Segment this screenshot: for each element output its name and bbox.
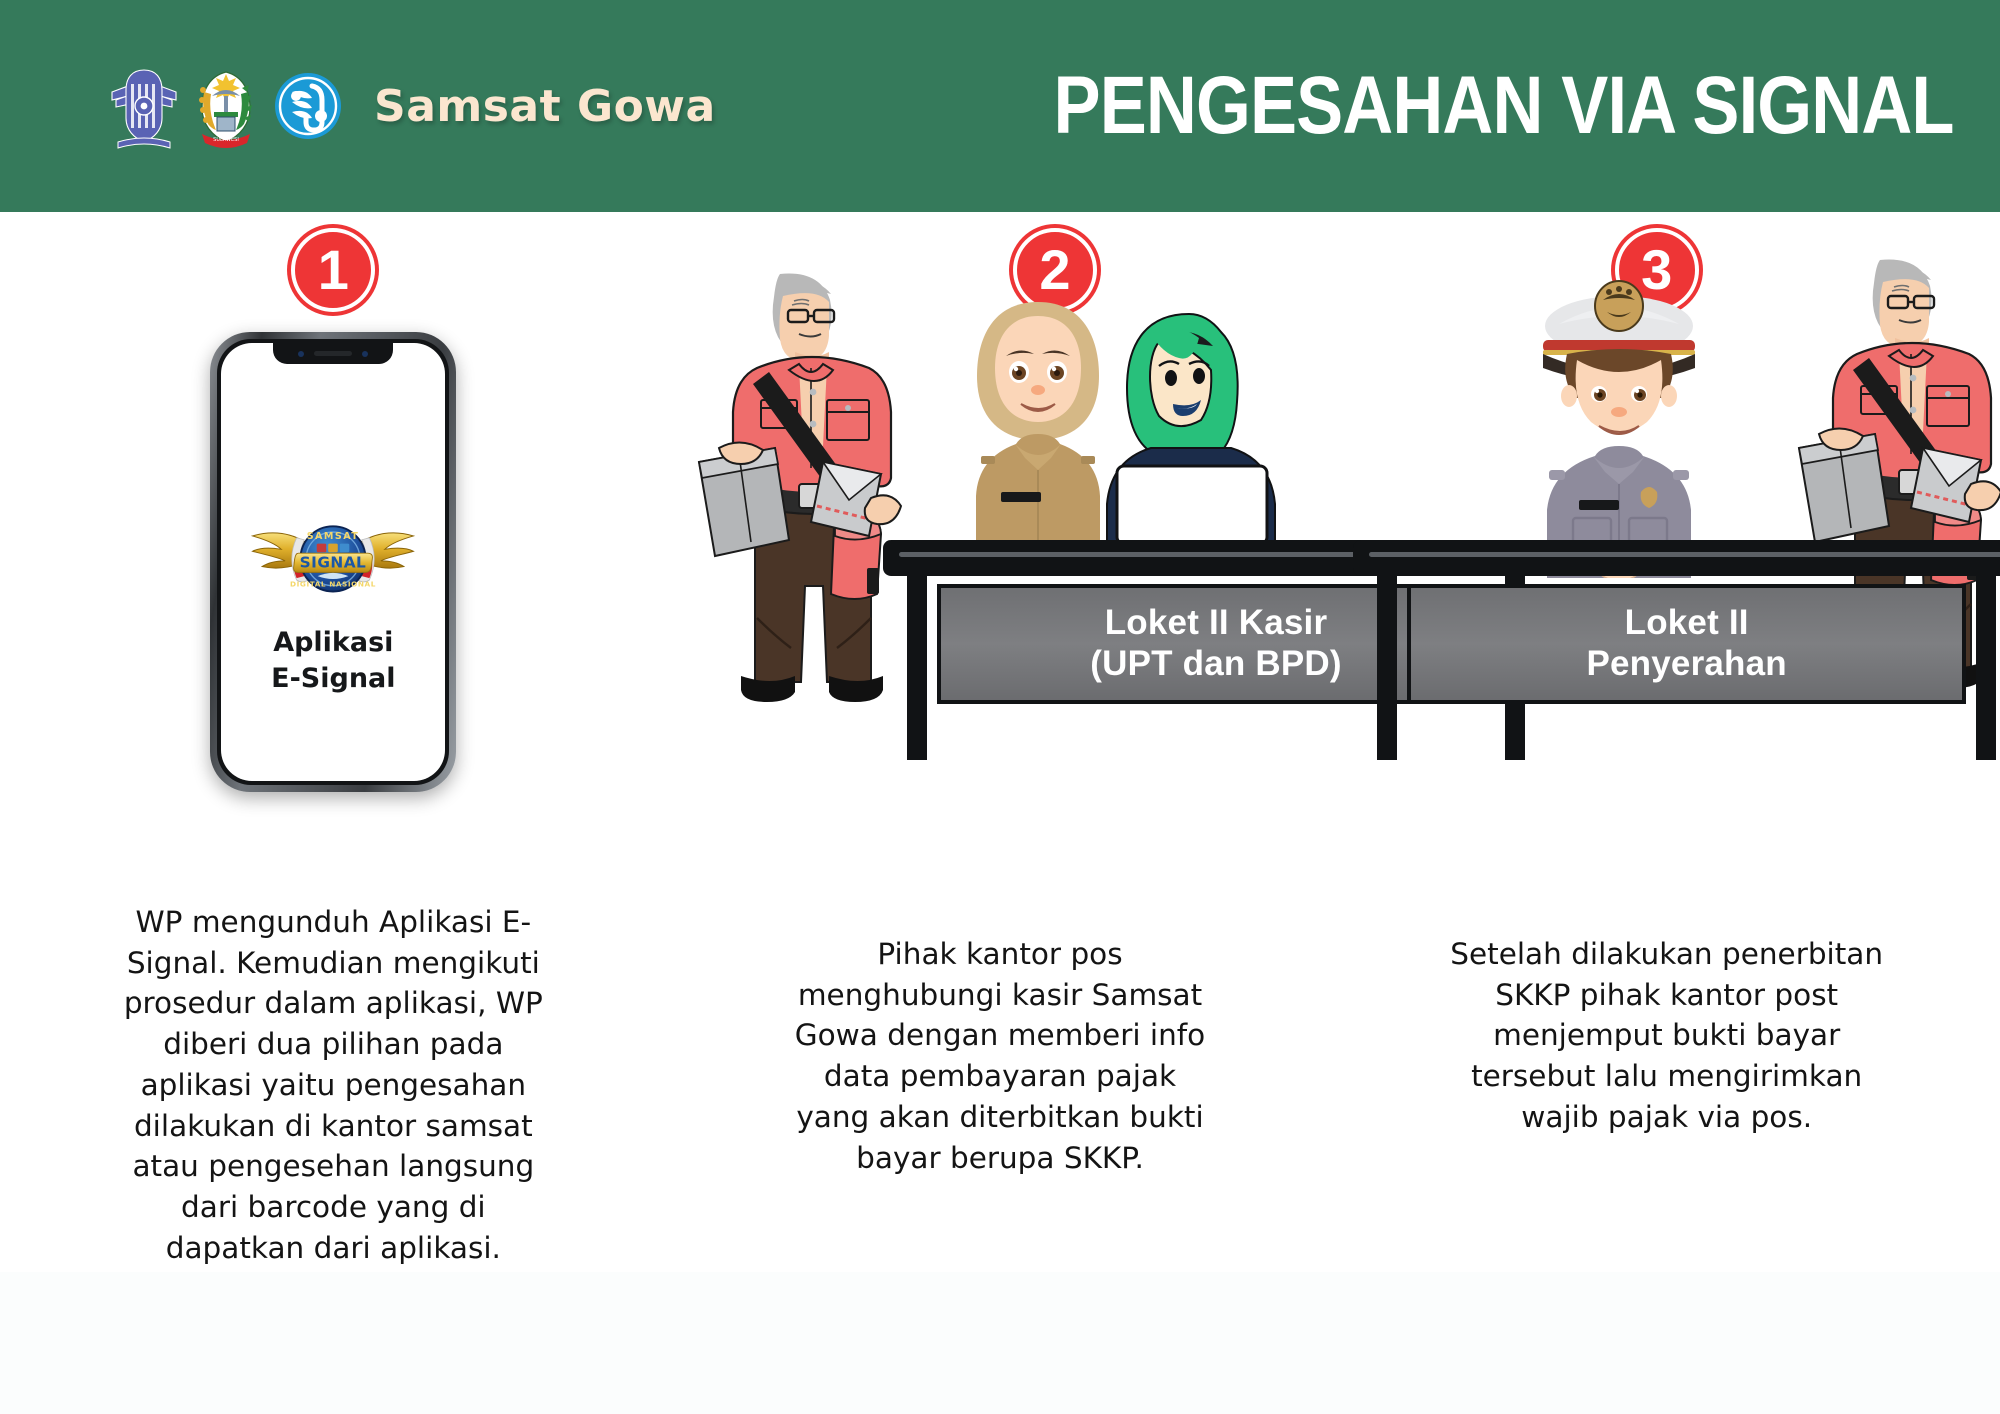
officer-woman-green-hijab-figure [1085,308,1299,570]
page-title: PENGESAHAN VIA SIGNAL [1054,59,1954,153]
svg-text:SAMSAT: SAMSAT [307,531,360,542]
counter-leg-left [907,576,927,760]
counter-sign-2-line-2: (UPT dan BPD) [1090,644,1341,685]
counter-top [1353,540,2000,576]
logo-group: SULAWESI [108,62,344,150]
step-3-caption: Setelah dilakukan penerbitan SKKP pihak … [1333,934,2000,1138]
step-3-scene: Loket II Penyerahan [1333,212,2000,902]
south-sulawesi-provincial-emblem-icon: SULAWESI [190,62,262,150]
step-1-caption: WP mengunduh Aplikasi E-Signal. Kemudian… [0,902,667,1268]
police-traffic-emblem-icon [108,62,180,150]
step-1-illustration: 1 [0,212,667,902]
brand-name: Samsat Gowa [374,81,716,132]
postman-figure [695,272,933,722]
infographic-poster: SULAWESI Samsat Gowa [0,0,2000,1414]
step-number-badge-1: 1 [291,228,375,312]
phone-screen: SAMSAT SIGNAL DIGITAL NASIONAL [221,343,445,781]
svg-text:SULAWESI: SULAWESI [213,137,239,143]
police-cap-emblem-icon [1595,281,1643,331]
step-2-scene: Loket II Kasir (UPT dan BPD) [667,212,1334,902]
svg-text:DIGITAL NASIONAL: DIGITAL NASIONAL [290,580,376,589]
step-column-3: 3 [1333,212,2000,1272]
app-name-line-1: Aplikasi [271,625,395,661]
sensor-icon [362,351,368,357]
counter-sign-3-line-1: Loket II [1586,603,1786,644]
counter-sign-3: Loket II Penyerahan [1407,584,1966,704]
earpiece-speaker-icon [314,351,352,356]
app-name-line-2: E-Signal [271,661,395,697]
jasa-raharja-logo-icon [272,62,344,150]
poster-header: SULAWESI Samsat Gowa [0,0,2000,212]
step-3-illustration: 3 [1333,212,2000,902]
smartphone-mockup: SAMSAT SIGNAL DIGITAL NASIONAL [210,332,456,792]
police-officer-figure [1513,278,1725,578]
step-2-caption: Pihak kantor pos menghubungi kasir Samsa… [667,934,1334,1178]
counter-leg-left [1377,576,1397,760]
step-column-2: 2 [667,212,1334,1272]
brand-lockup: SULAWESI Samsat Gowa [108,62,716,150]
step-column-1: 1 [0,212,667,1272]
counter-sign-2-line-1: Loket II Kasir [1090,603,1341,644]
app-name: Aplikasi E-Signal [271,625,395,696]
step-2-illustration: 2 [667,212,1334,902]
phone-bezel: SAMSAT SIGNAL DIGITAL NASIONAL [217,339,449,785]
steps-container: 1 [0,212,2000,1272]
signal-wings-logo-icon: SAMSAT SIGNAL DIGITAL NASIONAL [237,511,429,603]
front-camera-icon [298,351,304,357]
svg-text:SIGNAL: SIGNAL [300,554,367,572]
counter-leg-right [1976,576,1996,760]
phone-notch [273,343,393,364]
counter-sign-3-line-2: Penyerahan [1586,644,1786,685]
